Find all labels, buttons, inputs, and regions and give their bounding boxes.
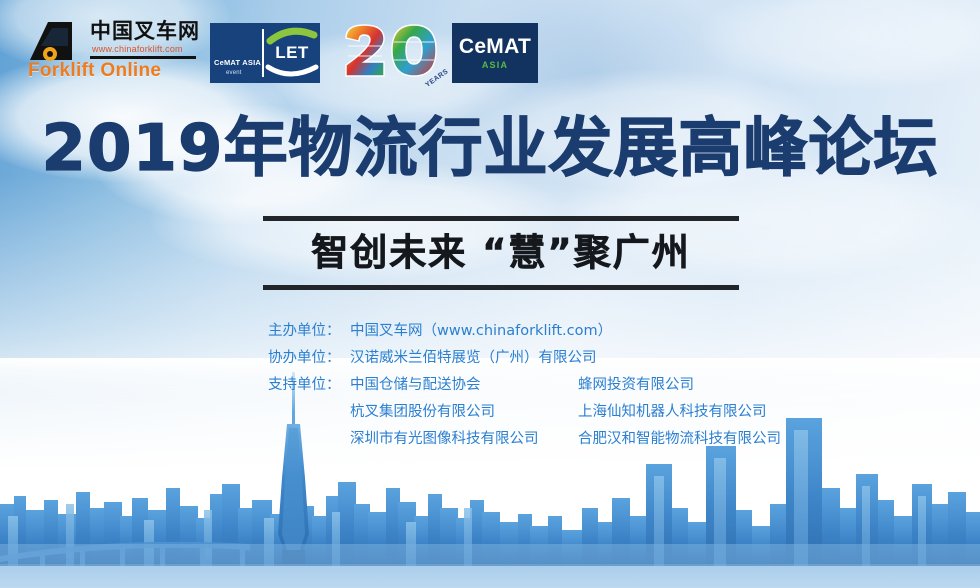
sponsor-name: 深圳市有光图像科技有限公司 xyxy=(350,426,578,453)
sponsor-name: 蜂网投资有限公司 xyxy=(578,372,694,399)
cemat-asia-let-logo[interactable]: CeMAT ASIA event LET xyxy=(210,23,320,83)
sponsor-row: 协办单位： 汉诺威米兰佰特展览（广州）有限公司 xyxy=(268,345,781,372)
let-event-owner: CeMAT ASIA xyxy=(214,58,261,67)
forklift-mark-icon xyxy=(28,20,90,64)
twenty-years-icon xyxy=(340,22,448,84)
poster-subtitle-block: 智创未来 “慧”聚广州 xyxy=(263,216,739,290)
sponsor-label: 支持单位： xyxy=(268,372,350,399)
logo-bar: 中国叉车网 www.chinaforklift.com Forklift Onl… xyxy=(0,0,980,92)
sponsor-row: 深圳市有光图像科技有限公司 合肥汉和智能物流科技有限公司 xyxy=(268,426,781,453)
subtitle-rule-bottom xyxy=(263,285,739,290)
river-water xyxy=(0,544,980,588)
cemat-wordmark: CeMAT xyxy=(459,36,531,58)
sponsor-name: 汉诺威米兰佰特展览（广州）有限公司 xyxy=(350,345,578,372)
let-left-panel: CeMAT ASIA event xyxy=(210,23,262,83)
poster-subtitle: 智创未来 “慧”聚广州 xyxy=(263,221,739,285)
let-wordmark: LET xyxy=(275,43,309,63)
sponsor-row: 杭叉集团股份有限公司 上海仙知机器人科技有限公司 xyxy=(268,399,781,426)
sponsor-name: 合肥汉和智能物流科技有限公司 xyxy=(578,426,781,453)
let-event-word: event xyxy=(226,70,242,76)
sponsor-name: 上海仙知机器人科技有限公司 xyxy=(578,399,767,426)
sponsor-label: 主办单位： xyxy=(268,318,350,345)
logo-chinese-name: 中国叉车网 xyxy=(90,20,200,44)
sponsor-row: 主办单位： 中国叉车网（www.chinaforklift.com） xyxy=(268,318,781,345)
poster-title: 2019年物流行业发展高峰论坛 xyxy=(0,113,980,185)
sponsor-list: 主办单位： 中国叉车网（www.chinaforklift.com） 协办单位：… xyxy=(268,318,781,453)
sponsor-label xyxy=(268,399,350,426)
logo-english-name: Forklift Online xyxy=(28,60,161,82)
cemat-asia-logo[interactable]: CeMAT ASIA xyxy=(452,23,538,83)
sponsor-name: 中国叉车网（www.chinaforklift.com） xyxy=(350,318,578,345)
sponsor-name: 中国仓储与配送协会 xyxy=(350,372,578,399)
sponsor-label xyxy=(268,426,350,453)
sponsor-label: 协办单位： xyxy=(268,345,350,372)
logo-website-url: www.chinaforklift.com xyxy=(92,44,183,54)
logo-divider xyxy=(90,56,196,59)
promo-poster: 中国叉车网 www.chinaforklift.com Forklift Onl… xyxy=(0,0,980,588)
cemat-region-label: ASIA xyxy=(482,60,508,70)
sponsor-row: 支持单位： 中国仓储与配送协会 蜂网投资有限公司 xyxy=(268,372,781,399)
let-right-panel: LET xyxy=(264,23,320,83)
twenty-years-logo[interactable]: YEARS xyxy=(340,22,448,84)
china-forklift-logo[interactable]: 中国叉车网 www.chinaforklift.com Forklift Onl… xyxy=(28,20,196,82)
sponsor-name: 杭叉集团股份有限公司 xyxy=(350,399,578,426)
